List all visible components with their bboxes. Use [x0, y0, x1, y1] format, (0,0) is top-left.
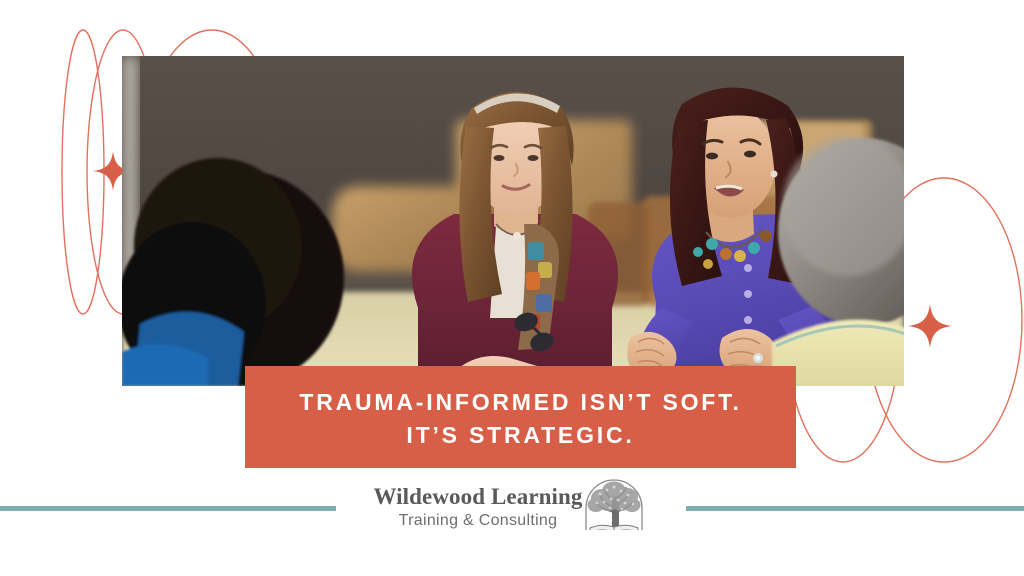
footer-rule-right: [686, 506, 1024, 511]
brand-logo: Wildewood Learning Training & Consulting: [372, 477, 652, 539]
headline-line-2: IT’S STRATEGIC.: [406, 419, 634, 452]
hero-photo: [122, 56, 904, 386]
headline-line-1: TRAUMA-INFORMED ISN’T SOFT.: [299, 386, 741, 419]
slide-canvas: TRAUMA-INFORMED ISN’T SOFT. IT’S STRATEG…: [0, 0, 1024, 576]
brand-name: Wildewood Learning: [373, 484, 582, 510]
headline-banner: TRAUMA-INFORMED ISN’T SOFT. IT’S STRATEG…: [245, 366, 796, 468]
footer-rule-left: [0, 506, 336, 511]
brand-logo-text: Wildewood Learning Training & Consulting: [372, 484, 584, 533]
brand-tagline: Training & Consulting: [399, 511, 558, 532]
sparkle-right-icon: [908, 304, 952, 348]
tree-in-arch-over-book-icon: [580, 478, 648, 538]
